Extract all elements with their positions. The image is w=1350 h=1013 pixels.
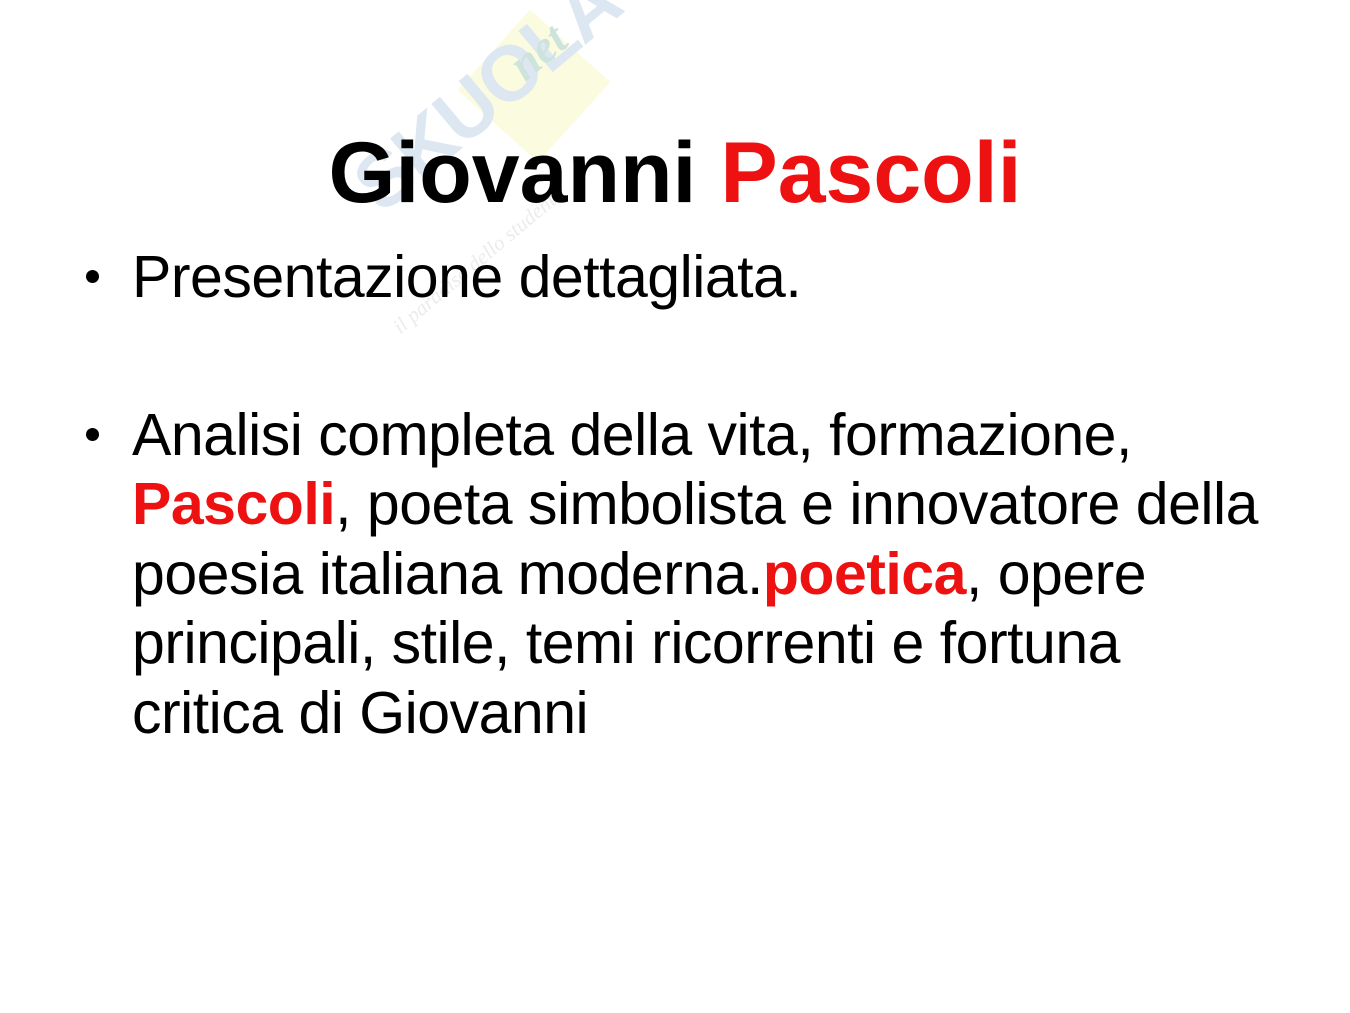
title-accent-part: Pascoli bbox=[720, 125, 1021, 221]
bullet-item-1: Presentazione dettagliata. bbox=[78, 243, 1278, 313]
bullet-dot-icon bbox=[86, 428, 99, 441]
title-plain-part: Giovanni bbox=[328, 125, 720, 221]
bullet-1-segment-0: Presentazione dettagliata. bbox=[132, 244, 801, 310]
bullet-2-segment-1-accent: Pascoli bbox=[132, 471, 335, 537]
bullet-spacer bbox=[78, 313, 1278, 401]
presentation-slide: SKUOLA net il paradiso dello studente Gi… bbox=[0, 0, 1350, 1013]
bullet-2-text: Analisi completa della vita, formazione,… bbox=[132, 402, 1258, 746]
watermark-suffix-text: net bbox=[498, 12, 577, 90]
bullet-dot-icon bbox=[86, 270, 99, 283]
bullet-2-segment-0: Analisi completa della vita, formazione, bbox=[132, 402, 1132, 468]
bullet-2-segment-3-accent: poetica bbox=[763, 541, 966, 607]
bullet-item-2: Analisi completa della vita, formazione,… bbox=[78, 401, 1278, 749]
bullet-1-text: Presentazione dettagliata. bbox=[132, 244, 801, 310]
slide-body: Presentazione dettagliata. Analisi compl… bbox=[78, 243, 1278, 749]
slide-title: Giovanni Pascoli bbox=[0, 130, 1350, 216]
